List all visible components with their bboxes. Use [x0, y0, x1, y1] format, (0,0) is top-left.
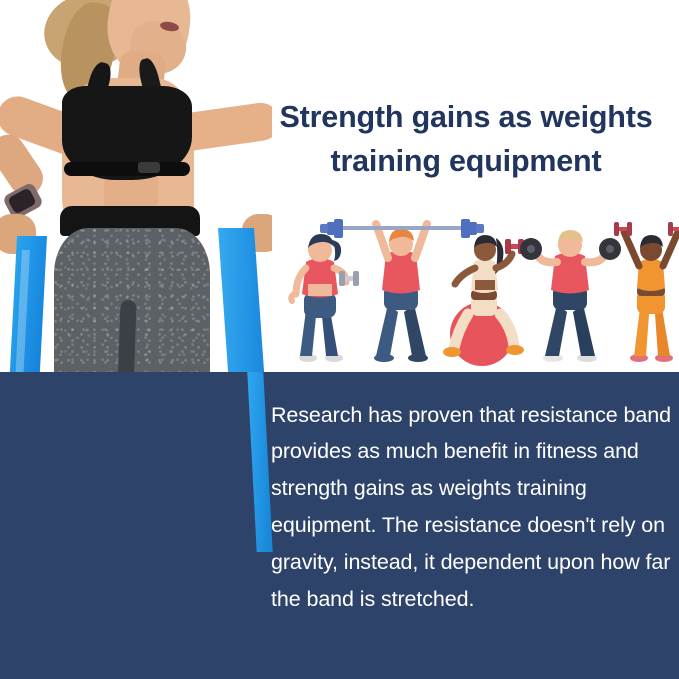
figure-woman-arms-raised [614, 222, 679, 362]
dumbbell-fig4-right [599, 238, 621, 260]
dumbbell-fig4-left [520, 238, 542, 260]
figure-woman-exercise-ball [443, 235, 524, 366]
figure-man-shoulder-press [520, 230, 621, 362]
figure-woman-with-dumbbell [291, 234, 359, 362]
product-infographic: Woman in black sports bra and gray leggi… [0, 0, 679, 679]
exercise-illustration-strip: Five flat-vector athletes performing wei… [272, 218, 679, 372]
page-title: Strength gains as weights training equip… [266, 96, 666, 183]
sports-bra-clip [138, 162, 160, 173]
description-text: Research has proven that resistance band… [271, 397, 671, 619]
photo-alt-text: Woman in black sports bra and gray leggi… [0, 0, 1, 1]
sports-bra-band [64, 162, 190, 176]
exercise-figures-svg [272, 218, 679, 372]
